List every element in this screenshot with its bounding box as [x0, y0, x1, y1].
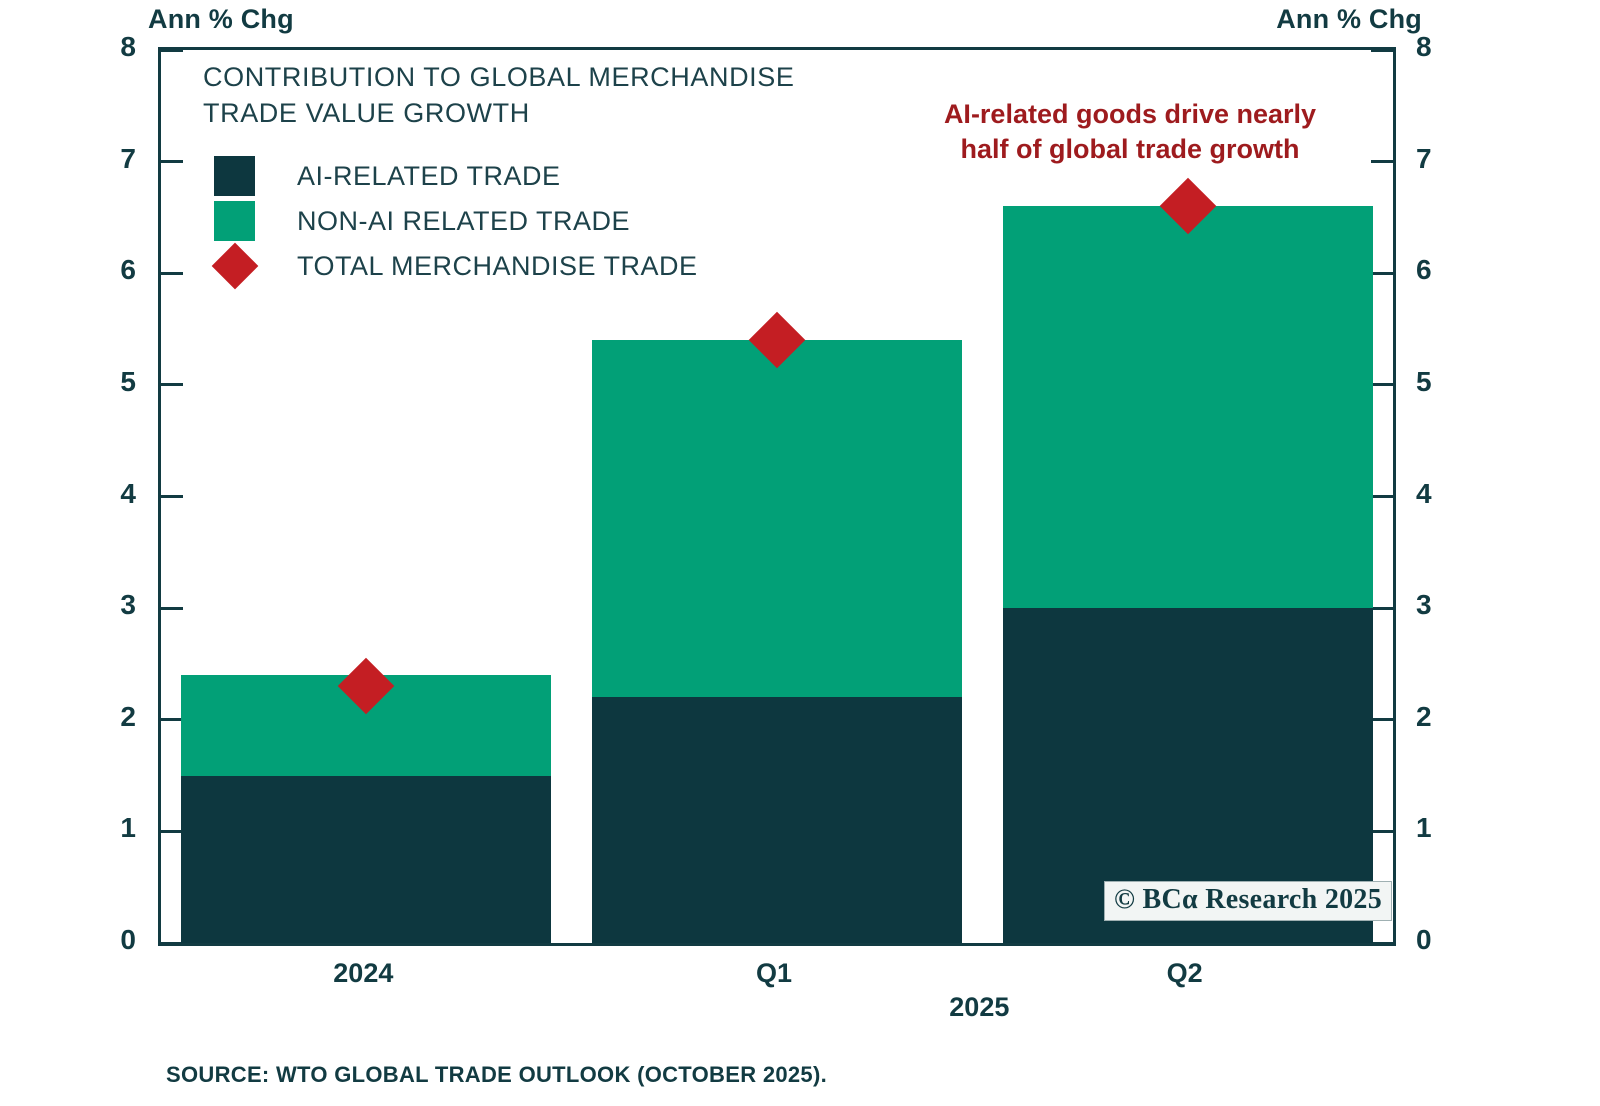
- chart-figure: Ann % Chg Ann % Chg 001122334455667788 2…: [0, 0, 1600, 1106]
- y-tick-left: [161, 942, 183, 945]
- y-axis-tick-label-right: 5: [1416, 368, 1462, 396]
- y-axis-tick-label-right: 4: [1416, 480, 1462, 508]
- copyright-watermark: © BCα Research 2025: [1104, 881, 1392, 921]
- y-tick-left: [161, 49, 183, 52]
- x-axis-group-label: 2025: [859, 992, 1099, 1023]
- y-axis-tick-label-left: 5: [90, 368, 136, 396]
- bar-segment-ai-related: [181, 776, 551, 943]
- y-tick-right: [1371, 830, 1393, 833]
- y-axis-tick-label-left: 0: [90, 926, 136, 954]
- y-axis-tick-label-left: 7: [90, 145, 136, 173]
- y-axis-tick-label-right: 3: [1416, 591, 1462, 619]
- y-axis-tick-label-left: 1: [90, 814, 136, 842]
- legend-item[interactable]: NON-AI RELATED TRADE: [203, 199, 903, 244]
- x-axis-tick-label: 2024: [243, 958, 483, 989]
- y-tick-right: [1371, 718, 1393, 721]
- y-axis-tick-label-right: 2: [1416, 703, 1462, 731]
- right-axis-unit-label: Ann % Chg: [1276, 4, 1422, 35]
- y-tick-right: [1371, 49, 1393, 52]
- y-tick-left: [161, 495, 183, 498]
- bar-segment-non-ai-related: [1003, 206, 1373, 608]
- y-axis-tick-label-right: 0: [1416, 926, 1462, 954]
- legend-square-swatch: [214, 156, 255, 196]
- y-tick-left: [161, 160, 183, 163]
- bar-segment-non-ai-related: [592, 340, 962, 697]
- x-axis-tick-label: Q1: [654, 958, 894, 989]
- legend-block: CONTRIBUTION TO GLOBAL MERCHANDISE TRADE…: [203, 60, 903, 289]
- y-tick-left: [161, 830, 183, 833]
- y-axis-tick-label-left: 8: [90, 33, 136, 61]
- legend-item-label: AI-RELATED TRADE: [297, 161, 561, 192]
- diamond-icon: [211, 243, 258, 290]
- y-axis-tick-label-right: 6: [1416, 256, 1462, 284]
- y-axis-tick-label-right: 7: [1416, 145, 1462, 173]
- legend-item[interactable]: TOTAL MERCHANDISE TRADE: [203, 244, 903, 289]
- y-tick-left: [161, 383, 183, 386]
- legend-square-swatch: [214, 201, 255, 241]
- chart-annotation: AI-related goods drive nearly half of gl…: [905, 97, 1355, 166]
- y-tick-right: [1371, 495, 1393, 498]
- y-axis-tick-label-right: 1: [1416, 814, 1462, 842]
- y-axis-tick-label-right: 8: [1416, 33, 1462, 61]
- y-tick-left: [161, 607, 183, 610]
- legend-item[interactable]: AI-RELATED TRADE: [203, 154, 903, 199]
- legend-item-label: NON-AI RELATED TRADE: [297, 206, 630, 237]
- legend-item-label: TOTAL MERCHANDISE TRADE: [297, 251, 698, 282]
- bar-segment-ai-related: [592, 697, 962, 943]
- y-axis-tick-label-left: 2: [90, 703, 136, 731]
- y-tick-left: [161, 272, 183, 275]
- legend-items: AI-RELATED TRADENON-AI RELATED TRADETOTA…: [203, 154, 903, 289]
- y-axis-tick-label-left: 3: [90, 591, 136, 619]
- y-axis-tick-label-left: 6: [90, 256, 136, 284]
- y-tick-right: [1371, 942, 1393, 945]
- y-tick-right: [1371, 160, 1393, 163]
- chart-title: CONTRIBUTION TO GLOBAL MERCHANDISE TRADE…: [203, 60, 903, 132]
- y-tick-right: [1371, 272, 1393, 275]
- legend-diamond-icon: [214, 244, 255, 289]
- source-note: SOURCE: WTO GLOBAL TRADE OUTLOOK (OCTOBE…: [166, 1062, 827, 1088]
- x-axis-tick-label: Q2: [1065, 958, 1305, 989]
- y-tick-left: [161, 718, 183, 721]
- left-axis-unit-label: Ann % Chg: [148, 4, 294, 35]
- y-tick-right: [1371, 383, 1393, 386]
- y-axis-tick-label-left: 4: [90, 480, 136, 508]
- y-tick-right: [1371, 607, 1393, 610]
